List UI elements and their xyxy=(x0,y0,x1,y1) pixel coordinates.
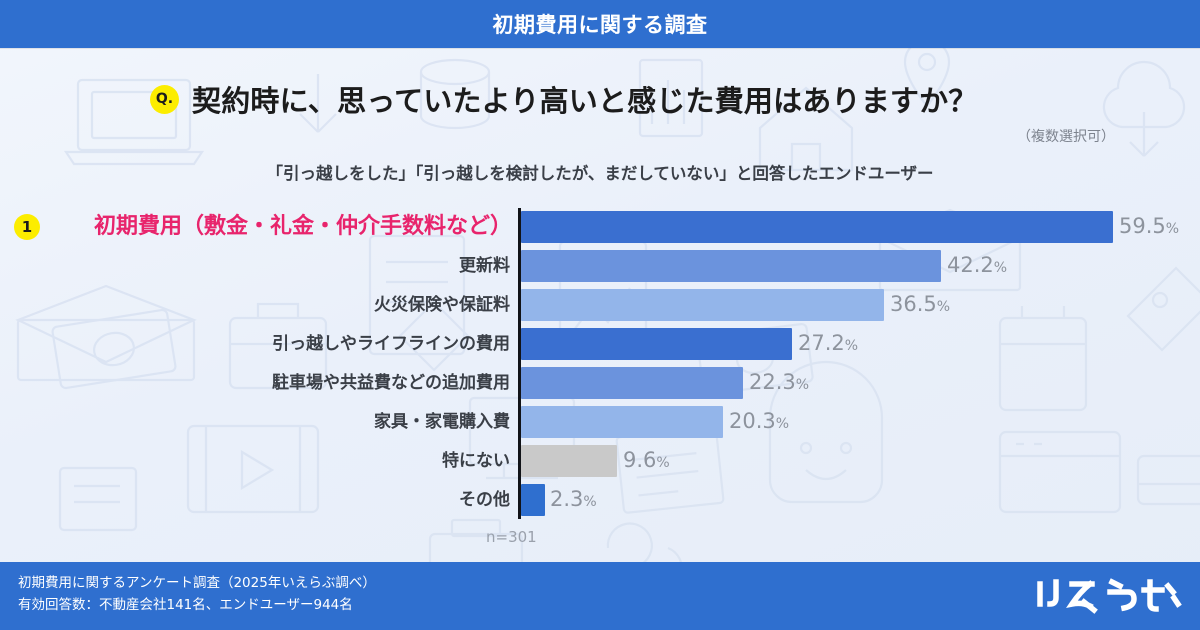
category-label: 更新料 xyxy=(459,250,510,282)
category-label: 家具・家電購入費 xyxy=(374,406,510,438)
chart-row: 1 初期費用（敷金・礼金・仲介手数料など） 59.5% xyxy=(0,211,1200,243)
ierabu-logo xyxy=(1032,576,1182,616)
chart-row: 特にない 9.6% xyxy=(0,445,1200,477)
chart-row: 駐車場や共益費などの追加費用 22.3% xyxy=(0,367,1200,399)
category-label: その他 xyxy=(459,484,510,516)
bar-4 xyxy=(521,367,743,399)
bar-7 xyxy=(521,484,545,516)
bar-5 xyxy=(521,406,723,438)
bar-value-4: 22.3% xyxy=(749,366,809,401)
bar-value-5: 20.3% xyxy=(729,405,789,440)
bar-value-7: 2.3% xyxy=(550,483,597,518)
category-label: 特にない xyxy=(442,445,510,477)
question-badge: Q. xyxy=(150,85,179,114)
chart-subtitle: 「引っ越しをした」「引っ越しを検討したが、まだしていない」と回答したエンドユーザ… xyxy=(0,160,1200,184)
bar-value-3: 27.2% xyxy=(798,327,858,362)
multiple-choice-note: （複数選択可） xyxy=(1017,126,1115,146)
bar-2 xyxy=(521,289,884,321)
chart-row: その他 2.3% xyxy=(0,484,1200,516)
footer-line-1: 初期費用に関するアンケート調査（2025年いえらぶ調べ） xyxy=(18,573,376,595)
chart-row: 引っ越しやライフラインの費用 27.2% xyxy=(0,328,1200,360)
bar-value-2: 36.5% xyxy=(890,288,950,323)
rank-badge: 1 xyxy=(14,214,40,240)
category-label: 火災保険や保証料 xyxy=(374,289,510,321)
page-title: 初期費用に関する調査 xyxy=(493,9,708,39)
bar-value-6: 9.6% xyxy=(623,444,670,479)
bar-1 xyxy=(521,250,941,282)
chart-row: 更新料 42.2% xyxy=(0,250,1200,282)
infographic-page: 初期費用に関する調査 Q. 契約時に、思っていたより高いと感じた費用はありますか… xyxy=(0,0,1200,630)
category-label: 初期費用（敷金・礼金・仲介手数料など） xyxy=(94,211,512,243)
chart-row: 家具・家電購入費 20.3% xyxy=(0,406,1200,438)
question-text: 契約時に、思っていたより高いと感じた費用はありますか？ xyxy=(192,78,978,120)
header-bar: 初期費用に関する調査 xyxy=(0,0,1200,48)
footer-source-text: 初期費用に関するアンケート調査（2025年いえらぶ調べ） 有効回答数：不動産会社… xyxy=(18,573,376,617)
category-label: 駐車場や共益費などの追加費用 xyxy=(272,367,510,399)
bar-0 xyxy=(521,211,1113,243)
bar-6 xyxy=(521,445,617,477)
footer-line-2: 有効回答数：不動産会社141名、エンドユーザー944名 xyxy=(18,595,376,617)
chart-row: 火災保険や保証料 36.5% xyxy=(0,289,1200,321)
question-row: Q. 契約時に、思っていたより高いと感じた費用はありますか？ xyxy=(150,78,978,120)
bar-chart: 1 初期費用（敷金・礼金・仲介手数料など） 59.5% 更新料 42.2% 火災… xyxy=(0,203,1200,523)
bar-value-0: 59.5% xyxy=(1119,210,1179,245)
bar-value-1: 42.2% xyxy=(947,249,1007,284)
category-label: 引っ越しやライフラインの費用 xyxy=(272,328,510,360)
footer-bar: 初期費用に関するアンケート調査（2025年いえらぶ調べ） 有効回答数：不動産会社… xyxy=(0,562,1200,630)
sample-size-label: n=301 xyxy=(486,528,537,546)
bar-3 xyxy=(521,328,792,360)
